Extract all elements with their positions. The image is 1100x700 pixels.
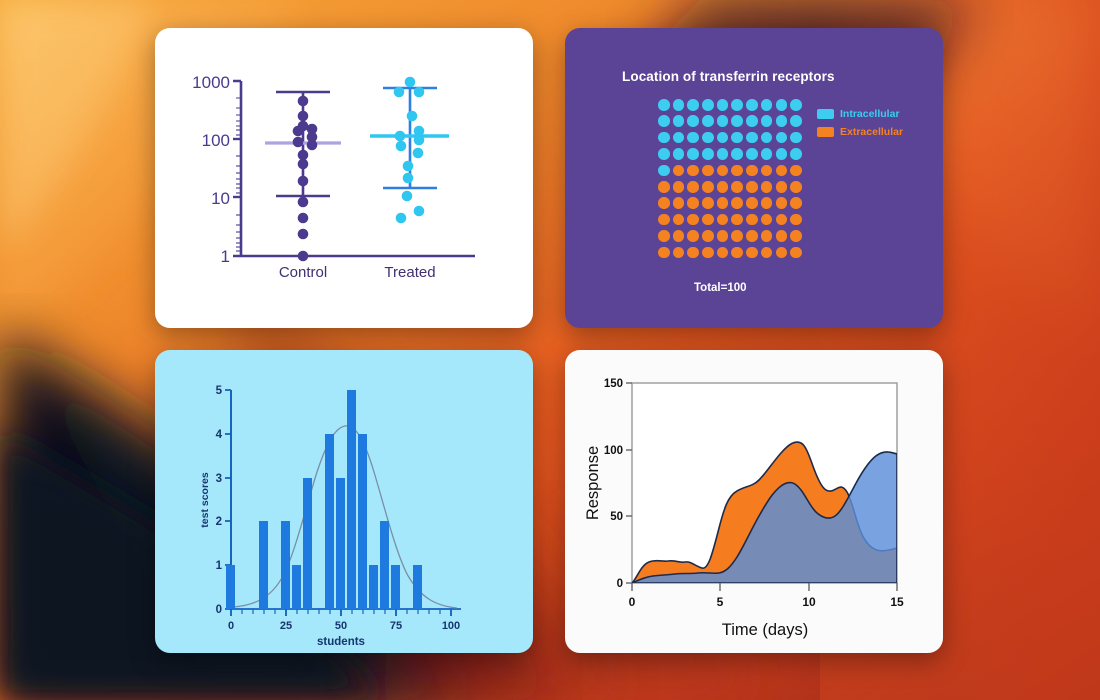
waffle-dot-extracellular (776, 247, 788, 259)
histogram-y-ticklabels: 01 23 4 5 (216, 385, 223, 616)
waffle-dot-intracellular (761, 99, 773, 111)
legend-item-extracellular[interactable]: Extracellular (817, 123, 903, 141)
waffle-dot-intracellular (658, 115, 670, 127)
svg-text:1000: 1000 (192, 73, 230, 92)
waffle-dot-intracellular (673, 132, 685, 144)
waffle-dot-extracellular (761, 214, 773, 226)
waffle-dot-extracellular (717, 181, 729, 193)
waffle-dot-intracellular (746, 99, 758, 111)
waffle-dot-extracellular (746, 230, 758, 242)
waffle-dot-intracellular (687, 148, 699, 160)
waffle-dot-extracellular (702, 247, 714, 259)
svg-text:50: 50 (335, 620, 347, 632)
waffle-dot-intracellular (731, 99, 743, 111)
waffle-dot-extracellular (687, 165, 699, 177)
svg-text:10: 10 (802, 595, 816, 609)
waffle-dot-extracellular (673, 247, 685, 259)
waffle-dot-extracellular (673, 214, 685, 226)
waffle-dot-extracellular (658, 214, 670, 226)
waffle-dot-extracellular (702, 197, 714, 209)
control-points (293, 96, 318, 262)
waffle-dot-extracellular (776, 230, 788, 242)
svg-text:0: 0 (617, 578, 623, 590)
waffle-dot-extracellular (761, 197, 773, 209)
waffle-dot-intracellular (790, 132, 802, 144)
scatter-xlabel-treated: Treated (371, 264, 449, 281)
waffle-dot-extracellular (702, 230, 714, 242)
svg-text:5: 5 (717, 595, 724, 609)
svg-text:100: 100 (604, 445, 623, 457)
waffle-dot-intracellular (717, 132, 729, 144)
histogram-chart: 01 23 4 5 (155, 350, 533, 653)
waffle-dot-intracellular (717, 115, 729, 127)
histogram-ylabel-text: test scores (199, 472, 211, 528)
histogram-xlabel-text: students (317, 636, 365, 648)
svg-text:150: 150 (604, 378, 623, 390)
waffle-dot-extracellular (790, 165, 802, 177)
waffle-dot-intracellular (761, 148, 773, 160)
legend-swatch-intracellular (817, 109, 834, 119)
waffle-dot-extracellular (746, 214, 758, 226)
scatter-chart: 1000 100 10 1 (155, 28, 533, 328)
waffle-dot-extracellular (790, 181, 802, 193)
waffle-dot-extracellular (746, 181, 758, 193)
waffle-dot-extracellular (790, 214, 802, 226)
waffle-dot-extracellular (776, 165, 788, 177)
waffle-dot-extracellular (731, 197, 743, 209)
waffle-dot-intracellular (658, 132, 670, 144)
waffle-dot-extracellular (761, 165, 773, 177)
waffle-dot-extracellular (717, 165, 729, 177)
svg-text:10: 10 (211, 189, 230, 208)
svg-text:4: 4 (216, 429, 223, 441)
waffle-dot-extracellular (790, 230, 802, 242)
svg-text:50: 50 (610, 511, 623, 523)
legend-label-extracellular: Extracellular (840, 126, 903, 138)
waffle-dot-extracellular (761, 230, 773, 242)
waffle-dot-extracellular (776, 181, 788, 193)
waffle-dot-extracellular (790, 197, 802, 209)
waffle-dot-intracellular (673, 148, 685, 160)
dot-plot-legend: Intracellular Extracellular (817, 105, 903, 141)
waffle-dot-intracellular (717, 148, 729, 160)
dot-plot-title: Location of transferrin receptors (622, 69, 835, 84)
waffle-dot-intracellular (687, 132, 699, 144)
waffle-dot-intracellular (731, 132, 743, 144)
waffle-dot-extracellular (717, 247, 729, 259)
waffle-dot-intracellular (731, 115, 743, 127)
waffle-dot-extracellular (790, 247, 802, 259)
waffle-dot-intracellular (702, 99, 714, 111)
svg-text:0: 0 (228, 620, 234, 632)
svg-text:100: 100 (202, 131, 230, 150)
waffle-dot-extracellular (717, 230, 729, 242)
histogram-card[interactable]: 01 23 4 5 (155, 350, 533, 653)
waffle-dot-intracellular (702, 132, 714, 144)
waffle-dot-extracellular (673, 197, 685, 209)
waffle-dot-intracellular (761, 132, 773, 144)
svg-text:2: 2 (216, 516, 222, 528)
histogram-bars (226, 390, 422, 609)
waffle-dot-extracellular (687, 197, 699, 209)
svg-text:5: 5 (216, 385, 223, 397)
legend-swatch-extracellular (817, 127, 834, 137)
waffle-dot-intracellular (717, 99, 729, 111)
waffle-dot-intracellular (687, 115, 699, 127)
dot-plot-card[interactable]: Location of transferrin receptors Intrac… (565, 28, 943, 328)
waffle-dot-extracellular (687, 214, 699, 226)
waffle-dot-intracellular (658, 148, 670, 160)
scatter-xlabel-control: Control (264, 264, 342, 281)
waffle-dot-extracellular (746, 165, 758, 177)
svg-text:1: 1 (216, 560, 223, 572)
waffle-dot-extracellular (658, 181, 670, 193)
waffle-dot-intracellular (776, 115, 788, 127)
area-xlabel-text: Time (days) (722, 621, 808, 639)
waffle-dot-intracellular (790, 99, 802, 111)
waffle-dot-extracellular (658, 247, 670, 259)
svg-text:15: 15 (890, 595, 904, 609)
treated-errorbar (383, 88, 437, 188)
svg-text:25: 25 (280, 620, 292, 632)
waffle-dot-intracellular (687, 99, 699, 111)
waffle-dot-extracellular (761, 181, 773, 193)
waffle-dot-extracellular (673, 230, 685, 242)
svg-text:100: 100 (442, 620, 460, 632)
waffle-dot-extracellular (702, 165, 714, 177)
scatter-chart-card[interactable]: 1000 100 10 1 (155, 28, 533, 328)
waffle-dot-intracellular (658, 99, 670, 111)
area-x-ticklabels: 0 5 10 15 (629, 595, 904, 609)
svg-text:1: 1 (221, 247, 230, 266)
scatter-y-ticklabels: 1000 100 10 1 (192, 73, 230, 266)
waffle-dot-extracellular (746, 247, 758, 259)
waffle-dot-extracellular (673, 181, 685, 193)
legend-label-intracellular: Intracellular (840, 108, 900, 120)
waffle-dot-intracellular (673, 99, 685, 111)
waffle-dot-intracellular (761, 115, 773, 127)
waffle-dot-extracellular (746, 197, 758, 209)
waffle-dot-intracellular (746, 115, 758, 127)
waffle-dot-extracellular (731, 165, 743, 177)
waffle-dot-intracellular (731, 148, 743, 160)
waffle-dot-intracellular (702, 115, 714, 127)
waffle-dot-extracellular (687, 181, 699, 193)
waffle-dot-intracellular (702, 148, 714, 160)
waffle-dot-extracellular (702, 214, 714, 226)
waffle-dot-extracellular (717, 214, 729, 226)
svg-text:0: 0 (629, 595, 636, 609)
waffle-dot-intracellular (776, 132, 788, 144)
area-y-ticklabels: 0 50 100150 (604, 378, 623, 590)
waffle-dot-extracellular (731, 247, 743, 259)
waffle-dot-intracellular (746, 132, 758, 144)
waffle-dot-extracellular (776, 214, 788, 226)
waffle-dot-extracellular (658, 230, 670, 242)
waffle-dot-extracellular (673, 165, 685, 177)
waffle-dot-intracellular (790, 148, 802, 160)
waffle-dot-intracellular (776, 99, 788, 111)
waffle-dot-extracellular (731, 230, 743, 242)
waffle-dot-intracellular (673, 115, 685, 127)
waffle-dot-extracellular (776, 197, 788, 209)
waffle-dot-extracellular (658, 197, 670, 209)
dot-plot-total-label: Total=100 (694, 282, 747, 294)
area-chart-card[interactable]: 0 50 100150 0 5 10 15 Time (days) Respon… (565, 350, 943, 653)
waffle-dot-extracellular (702, 181, 714, 193)
histogram-x-ticklabels: 0 25 50 75 100 (228, 620, 460, 632)
waffle-dot-intracellular (790, 115, 802, 127)
area-ylabel-text: Response (584, 446, 602, 520)
waffle-dot-intracellular (658, 165, 670, 177)
waffle-dot-extracellular (717, 197, 729, 209)
waffle-dot-extracellular (761, 247, 773, 259)
waffle-dot-extracellular (731, 181, 743, 193)
svg-text:75: 75 (390, 620, 402, 632)
area-chart: 0 50 100150 0 5 10 15 Time (days) Respon… (565, 350, 943, 653)
dot-plot-grid (658, 99, 805, 263)
waffle-dot-intracellular (776, 148, 788, 160)
waffle-dot-extracellular (687, 230, 699, 242)
legend-item-intracellular[interactable]: Intracellular (817, 105, 903, 123)
svg-text:3: 3 (216, 473, 222, 485)
waffle-dot-intracellular (746, 148, 758, 160)
svg-text:0: 0 (216, 604, 222, 616)
waffle-dot-extracellular (687, 247, 699, 259)
waffle-dot-extracellular (731, 214, 743, 226)
